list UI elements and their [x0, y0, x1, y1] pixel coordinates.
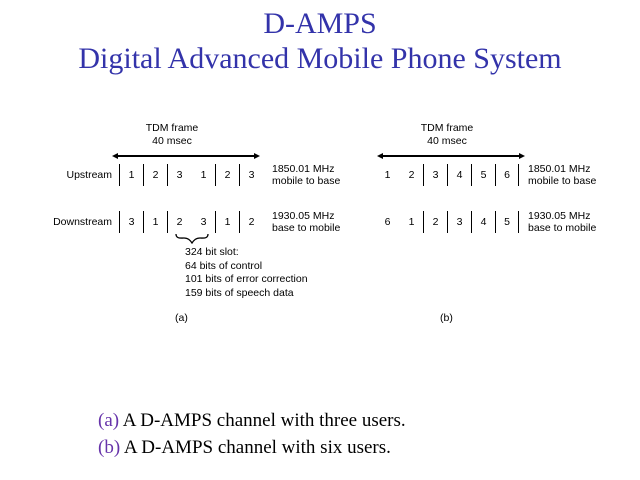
- slot-detail-line: 159 bits of speech data: [185, 287, 308, 301]
- slot: 2: [143, 164, 167, 186]
- caption-b-marker: (b): [98, 437, 120, 458]
- downstream-label-a: Downstream: [35, 216, 119, 228]
- diagram-a: TDM frame 40 msec Upstream 1 2 3 1 2 3 1…: [35, 122, 345, 337]
- slot: 1: [143, 211, 167, 233]
- upstream-row-a: Upstream 1 2 3 1 2 3 1850.01 MHz mobile …: [35, 164, 340, 186]
- diagram-a-id: (a): [175, 312, 188, 324]
- slot: 3: [119, 211, 143, 233]
- upstream-slots-b: 1 2 3 4 5 6: [375, 164, 519, 186]
- page-title: D-AMPS Digital Advanced Mobile Phone Sys…: [0, 6, 640, 77]
- slot: 6: [495, 164, 519, 186]
- slot: 1: [119, 164, 143, 186]
- downstream-frequency-b: 1930.05 MHz base to mobile: [519, 210, 596, 235]
- arrow-shaft: [116, 155, 256, 157]
- tdm-frame-caption-a: TDM frame 40 msec: [107, 122, 237, 148]
- tdm-frame-caption-b: TDM frame 40 msec: [382, 122, 512, 148]
- upstream-frequency-value-a: 1850.01 MHz: [272, 163, 340, 176]
- slot: 1: [215, 211, 239, 233]
- upstream-label-a: Upstream: [35, 169, 119, 181]
- upstream-frequency-a: 1850.01 MHz mobile to base: [263, 163, 340, 188]
- downstream-frequency-value-b: 1930.05 MHz: [528, 210, 596, 223]
- slot: 2: [423, 211, 447, 233]
- tdm-duration-label-b: 40 msec: [382, 135, 512, 148]
- upstream-slots-a: 1 2 3 1 2 3: [119, 164, 263, 186]
- downstream-frequency-a: 1930.05 MHz base to mobile: [263, 210, 340, 235]
- title-line-primary: D-AMPS: [0, 6, 640, 41]
- downstream-row-a: Downstream 3 1 2 3 1 2 1930.05 MHz base …: [35, 211, 340, 233]
- title-line-secondary: Digital Advanced Mobile Phone System: [0, 41, 640, 76]
- downstream-direction-a: base to mobile: [272, 222, 340, 235]
- upstream-row-b: 1 2 3 4 5 6 1850.01 MHz mobile to base: [375, 164, 596, 186]
- slot: 3: [191, 211, 215, 233]
- downstream-direction-b: base to mobile: [528, 222, 596, 235]
- diagram-b: TDM frame 40 msec 1 2 3 4 5 6 1850.01 MH…: [375, 122, 630, 337]
- tdm-frame-span-arrow-a: [112, 151, 260, 160]
- slot: 4: [447, 164, 471, 186]
- slot: 3: [423, 164, 447, 186]
- slot-detail-line: 324 bit slot:: [185, 246, 308, 260]
- tdm-frame-label-a: TDM frame: [107, 122, 237, 135]
- slot: 3: [447, 211, 471, 233]
- slot: 5: [471, 164, 495, 186]
- caption-b-text: A D-AMPS channel with six users.: [120, 437, 391, 458]
- upstream-direction-b: mobile to base: [528, 175, 596, 188]
- diagram-b-id: (b): [440, 312, 453, 324]
- upstream-frequency-value-b: 1850.01 MHz: [528, 163, 596, 176]
- slot: 2: [167, 211, 191, 233]
- slot: 3: [167, 164, 191, 186]
- figure-captions: (a) A D-AMPS channel with three users. (…: [98, 407, 406, 461]
- slot: 5: [495, 211, 519, 233]
- slot: 4: [471, 211, 495, 233]
- tdm-duration-label-a: 40 msec: [107, 135, 237, 148]
- upstream-direction-a: mobile to base: [272, 175, 340, 188]
- slot: 2: [215, 164, 239, 186]
- caption-a: (a) A D-AMPS channel with three users.: [98, 407, 406, 434]
- slot: 6: [375, 211, 399, 233]
- arrow-shaft: [381, 155, 521, 157]
- slot: 2: [239, 211, 263, 233]
- slot: 1: [191, 164, 215, 186]
- slot-detail-line: 64 bits of control: [185, 260, 308, 274]
- tdm-frame-label-b: TDM frame: [382, 122, 512, 135]
- caption-a-marker: (a): [98, 410, 119, 431]
- downstream-slots-b: 6 1 2 3 4 5: [375, 211, 519, 233]
- upstream-frequency-b: 1850.01 MHz mobile to base: [519, 163, 596, 188]
- tdm-frame-span-arrow-b: [377, 151, 525, 160]
- caption-b: (b) A D-AMPS channel with six users.: [98, 434, 406, 461]
- caption-a-text: A D-AMPS channel with three users.: [119, 410, 406, 431]
- slot: 1: [399, 211, 423, 233]
- downstream-frequency-value-a: 1930.05 MHz: [272, 210, 340, 223]
- slot-detail-line: 101 bits of error correction: [185, 273, 308, 287]
- slot-detail-list-a: 324 bit slot: 64 bits of control 101 bit…: [185, 246, 308, 300]
- slot: 2: [399, 164, 423, 186]
- slot: 3: [239, 164, 263, 186]
- downstream-row-b: 6 1 2 3 4 5 1930.05 MHz base to mobile: [375, 211, 596, 233]
- arrow-head-right-icon: [254, 153, 260, 159]
- slot: 1: [375, 164, 399, 186]
- downstream-slots-a: 3 1 2 3 1 2: [119, 211, 263, 233]
- arrow-head-right-icon: [519, 153, 525, 159]
